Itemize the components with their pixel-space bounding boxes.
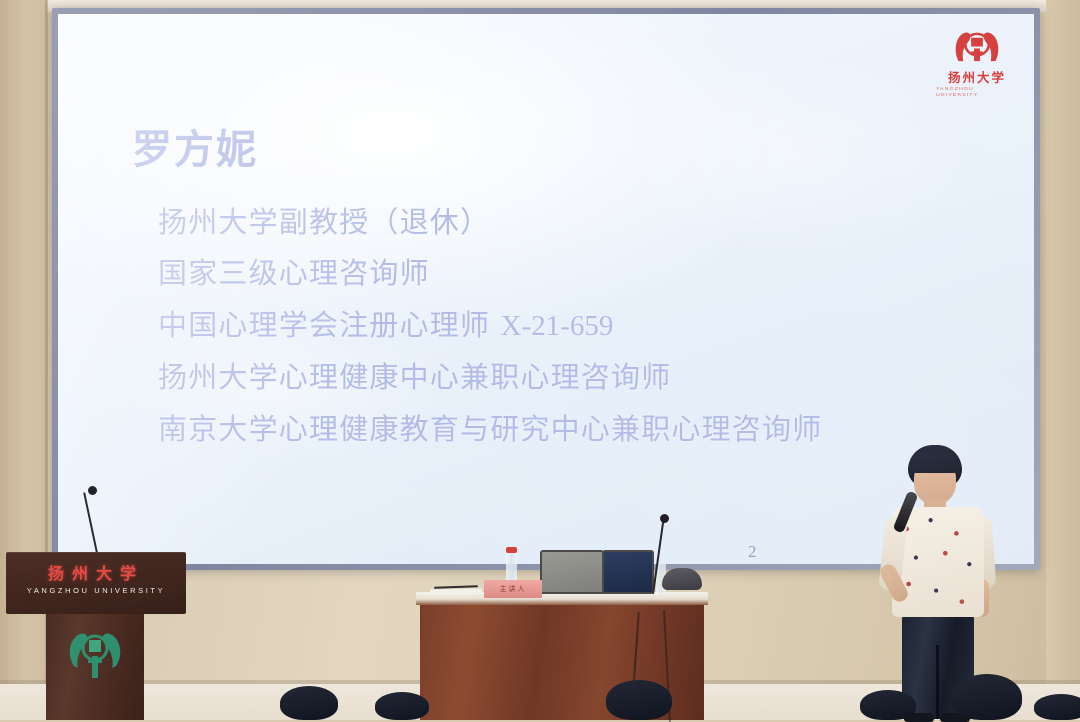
slide-bullet-3: 中国心理学会注册心理师 X-21-659 <box>158 309 998 342</box>
slide-bullet-2: 国家三级心理咨询师 <box>158 257 998 289</box>
podium-column <box>46 612 144 720</box>
university-logo: 扬州大学 YANGZHOU UNIVERSITY <box>936 28 1018 98</box>
lectern-podium: 扬州大学 YANGZHOU UNIVERSITY <box>6 552 186 720</box>
laptop-screen <box>602 550 654 594</box>
slide-bullet-4: 扬州大学心理健康中心兼职心理咨询师 <box>158 361 998 393</box>
headset <box>662 568 702 590</box>
university-logo-en: YANGZHOU UNIVERSITY <box>936 86 1018 97</box>
podium-microphone-icon <box>88 486 97 495</box>
slide-bullet-list: 扬州大学副教授（退休） 国家三级心理咨询师 中国心理学会注册心理师 X-21-6… <box>158 206 998 445</box>
water-bottle-cap <box>506 547 517 553</box>
slide-bullet-1: 扬州大学副教授（退休） <box>158 206 998 238</box>
podium-university-en: YANGZHOU UNIVERSITY <box>6 586 186 595</box>
university-logo-cn: 扬州大学 <box>948 67 1006 86</box>
audience-head <box>375 692 429 720</box>
slide-title: 罗方妮 <box>132 117 258 175</box>
name-card: 主讲人 <box>484 580 542 598</box>
right-wall-panel <box>1046 0 1080 690</box>
audience-head <box>860 690 916 720</box>
podium-emblem-icon <box>64 624 126 686</box>
podium-header-panel: 扬州大学 YANGZHOU UNIVERSITY <box>6 552 186 614</box>
presenter-hair-front <box>910 453 960 473</box>
slide-bullet-3-code: X-21-659 <box>501 310 614 342</box>
audience-head <box>606 680 672 720</box>
audience-head <box>280 686 338 720</box>
audience-head <box>1034 694 1080 720</box>
presenter-leg-seam <box>936 645 939 719</box>
podium-university-cn: 扬州大学 <box>6 560 186 584</box>
slide-page-number: 2 <box>748 542 757 562</box>
table-microphone-icon <box>660 514 669 523</box>
university-emblem-icon <box>950 28 1004 65</box>
slide-bullet-3-prefix: 中国心理学会注册心理师 <box>158 308 501 342</box>
name-card-text: 主讲人 <box>484 580 542 598</box>
audience-head <box>952 674 1022 720</box>
slide-bullet-5: 南京大学心理健康教育与研究中心兼职心理咨询师 <box>158 413 998 445</box>
lecture-hall-scene: 扬州大学 YANGZHOU UNIVERSITY 罗方妮 扬州大学副教授（退休）… <box>0 0 1080 720</box>
laptop-lid <box>540 550 604 594</box>
